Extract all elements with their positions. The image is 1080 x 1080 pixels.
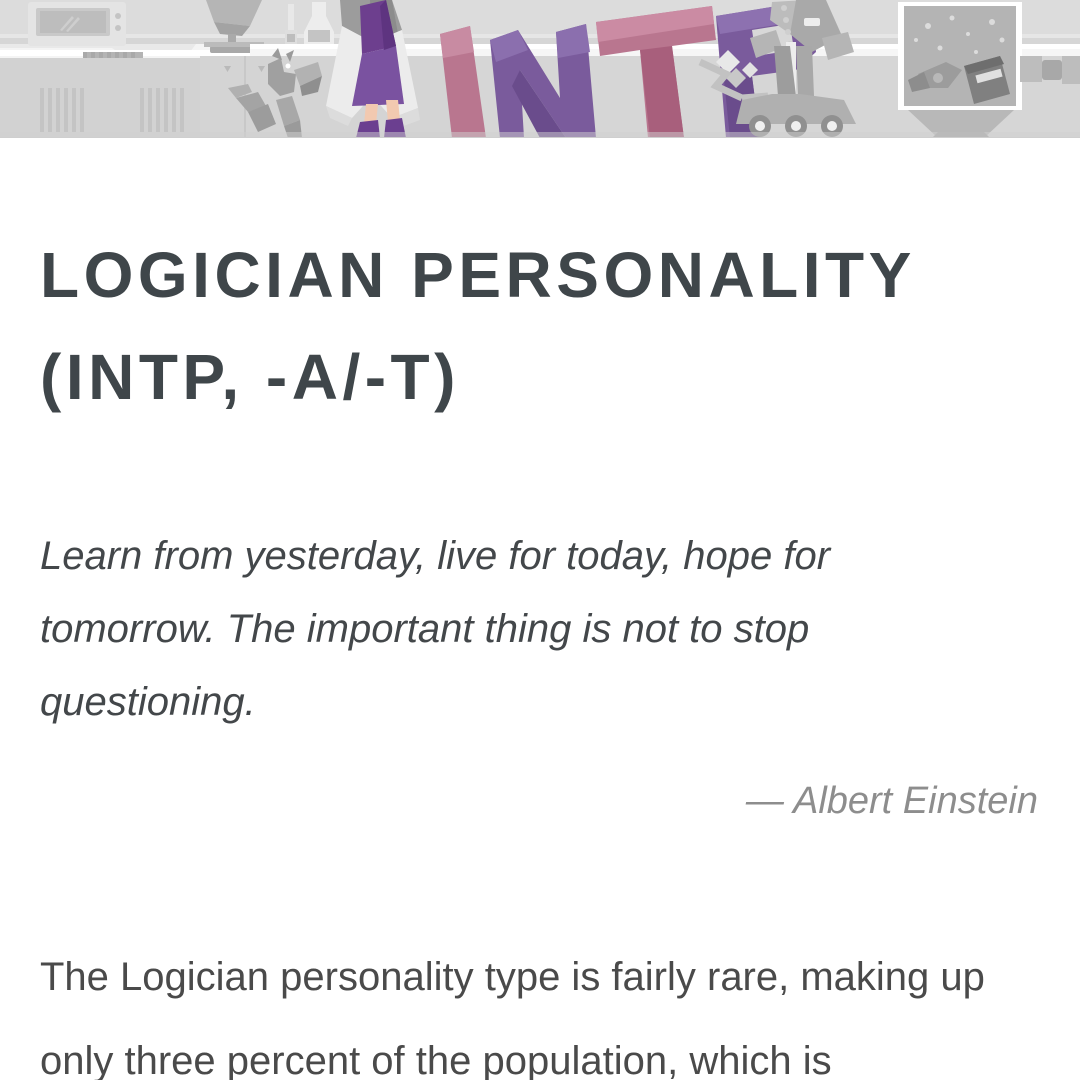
quote-attribution: — Albert Einstein (40, 777, 1040, 825)
quote-text: Learn from yesterday, live for today, ho… (40, 520, 900, 739)
body-paragraph: The Logician personality type is fairly … (40, 935, 1000, 1080)
hero-banner (0, 0, 1080, 138)
monitor-device (28, 2, 126, 46)
pull-quote: Learn from yesterday, live for today, ho… (40, 520, 1040, 825)
right-robot-arm (1020, 56, 1080, 84)
intp-lab-illustration (0, 0, 1080, 138)
page-title: Logician Personality (INTP, -A/-T) (40, 224, 1040, 428)
display-case-book (898, 2, 1022, 138)
article-page: Logician Personality (INTP, -A/-T) Learn… (0, 0, 1080, 1080)
article-content: Logician Personality (INTP, -A/-T) Learn… (0, 224, 1080, 1080)
